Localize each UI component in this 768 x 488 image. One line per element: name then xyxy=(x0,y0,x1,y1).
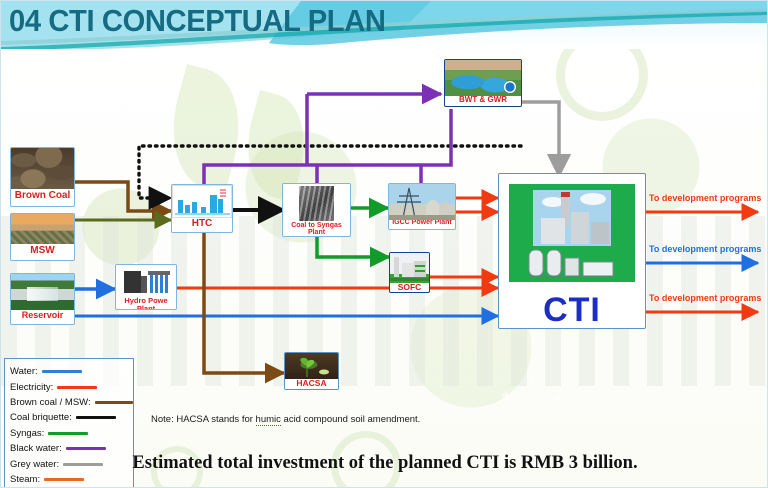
node-hydro-label: Hydro Powe Plant xyxy=(116,296,176,310)
legend-row: Coal briquette: xyxy=(10,410,133,425)
note-underlined-word: humic xyxy=(256,414,281,426)
legend-swatch xyxy=(57,386,97,389)
note-prefix: Note: HACSA stands for xyxy=(151,414,256,425)
node-brown-coal-label: Brown Coal xyxy=(11,189,74,202)
legend-swatch xyxy=(42,370,82,373)
node-cti-label: CTI xyxy=(499,292,645,328)
node-msw-label: MSW xyxy=(11,244,74,257)
seedling-glyph xyxy=(285,353,338,379)
sofc-plant-glyph xyxy=(390,253,429,283)
legend-label: Brown coal / MSW: xyxy=(10,397,91,408)
legend-swatch xyxy=(44,478,84,481)
brown-coal-photo xyxy=(11,148,74,189)
node-cti[interactable]: CTI xyxy=(498,173,646,329)
node-sofc[interactable]: SOFC xyxy=(389,252,430,293)
node-igcc-power-plant[interactable]: IGCC Power Plant xyxy=(388,183,456,230)
htc-chart-photo xyxy=(172,185,232,218)
hydro-plant-photo xyxy=(116,265,176,296)
water-badge-icon xyxy=(444,59,520,95)
legend-row: Syngas: xyxy=(10,426,133,441)
note-suffix: acid compound soil amendment. xyxy=(281,414,420,425)
reservoir-photo xyxy=(11,274,74,310)
note-text: Note: HACSA stands for humic acid compou… xyxy=(151,414,420,425)
node-coal-to-syngas-plant[interactable]: Coal to Syngas Plant xyxy=(282,183,351,237)
node-reservoir-label: Reservoir xyxy=(11,310,74,320)
legend-label: Coal briquette: xyxy=(10,412,72,423)
hydro-plant-glyph xyxy=(116,265,177,296)
node-brown-coal[interactable]: Brown Coal xyxy=(10,147,75,207)
node-reservoir[interactable]: Reservoir xyxy=(10,273,75,325)
legend-swatch xyxy=(48,432,88,435)
water-treatment-photo xyxy=(445,60,521,96)
legend-row: Electricity: xyxy=(10,379,133,394)
node-msw[interactable]: MSW xyxy=(10,213,75,261)
legend-label: Syngas: xyxy=(10,428,44,439)
output-label-2: To development programs xyxy=(649,244,761,254)
node-htc-label: HTC xyxy=(172,218,232,230)
legend-row: Water: xyxy=(10,364,133,379)
output-label-1: To development programs xyxy=(649,193,761,203)
legend-row: Brown coal / MSW: xyxy=(10,395,133,410)
node-igcc-label: IGCC Power Plant xyxy=(389,219,455,226)
legend-swatch xyxy=(76,416,116,419)
node-sofc-label: SOFC xyxy=(390,283,429,292)
node-syngas-label: Coal to Syngas Plant xyxy=(283,221,350,237)
node-bwt-gwr[interactable]: BWT & GWR xyxy=(444,59,522,107)
node-hydro-power-plant[interactable]: Hydro Powe Plant xyxy=(115,264,177,310)
syngas-plant-photo xyxy=(299,186,334,221)
msw-photo xyxy=(11,214,74,244)
sofc-plant-photo xyxy=(390,253,429,283)
slide-canvas: ❄ ❄ ❄ 04 CTI CONCEPTUAL PLAN xyxy=(0,0,768,488)
legend-label: Water: xyxy=(10,366,38,377)
legend-row: Steam: xyxy=(10,472,133,487)
node-hacsa[interactable]: HACSA xyxy=(284,352,339,390)
node-bwt-label: BWT & GWR xyxy=(445,96,521,104)
cti-plant-photo xyxy=(509,184,635,282)
seedling-soil-photo xyxy=(285,353,338,379)
node-hacsa-label: HACSA xyxy=(285,379,338,388)
legend-swatch xyxy=(95,401,133,404)
legend-label: Electricity: xyxy=(10,382,53,393)
pylon-glyph xyxy=(389,184,455,220)
node-htc[interactable]: HTC xyxy=(171,184,233,233)
legend-label: Steam: xyxy=(10,474,40,485)
investment-caption: Estimated total investment of the planne… xyxy=(1,453,768,474)
legend-swatch xyxy=(66,447,106,450)
output-label-3: To development programs xyxy=(649,293,761,303)
power-pylon-photo xyxy=(389,184,455,220)
htc-chart-glyph xyxy=(173,186,233,217)
cti-plant-glyph xyxy=(509,184,637,282)
